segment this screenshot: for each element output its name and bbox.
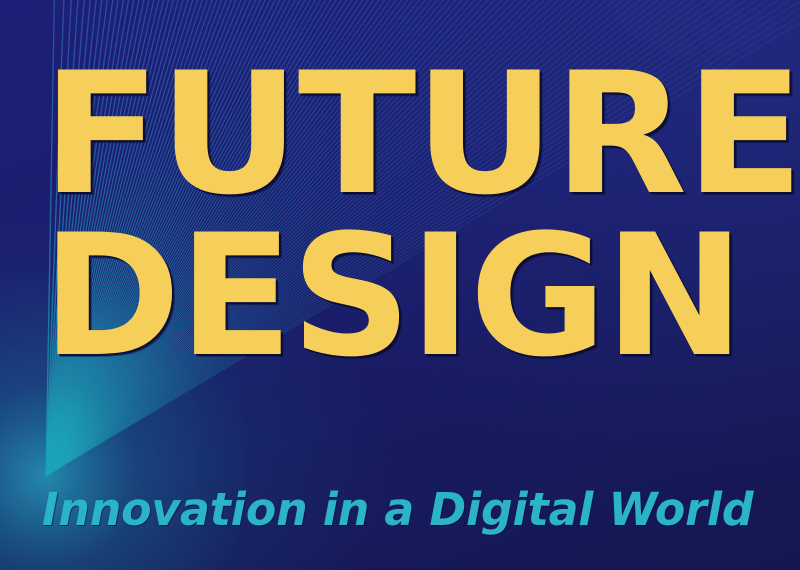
title-line-design: DESIGN [42, 224, 756, 368]
poster-canvas: FUTURE DESIGN Innovation in a Digital Wo… [0, 0, 800, 570]
title-line-future: FUTURE [42, 62, 785, 206]
poster-subtitle: Innovation in a Digital World [42, 487, 753, 532]
poster-title-block: FUTURE DESIGN [40, 62, 760, 369]
